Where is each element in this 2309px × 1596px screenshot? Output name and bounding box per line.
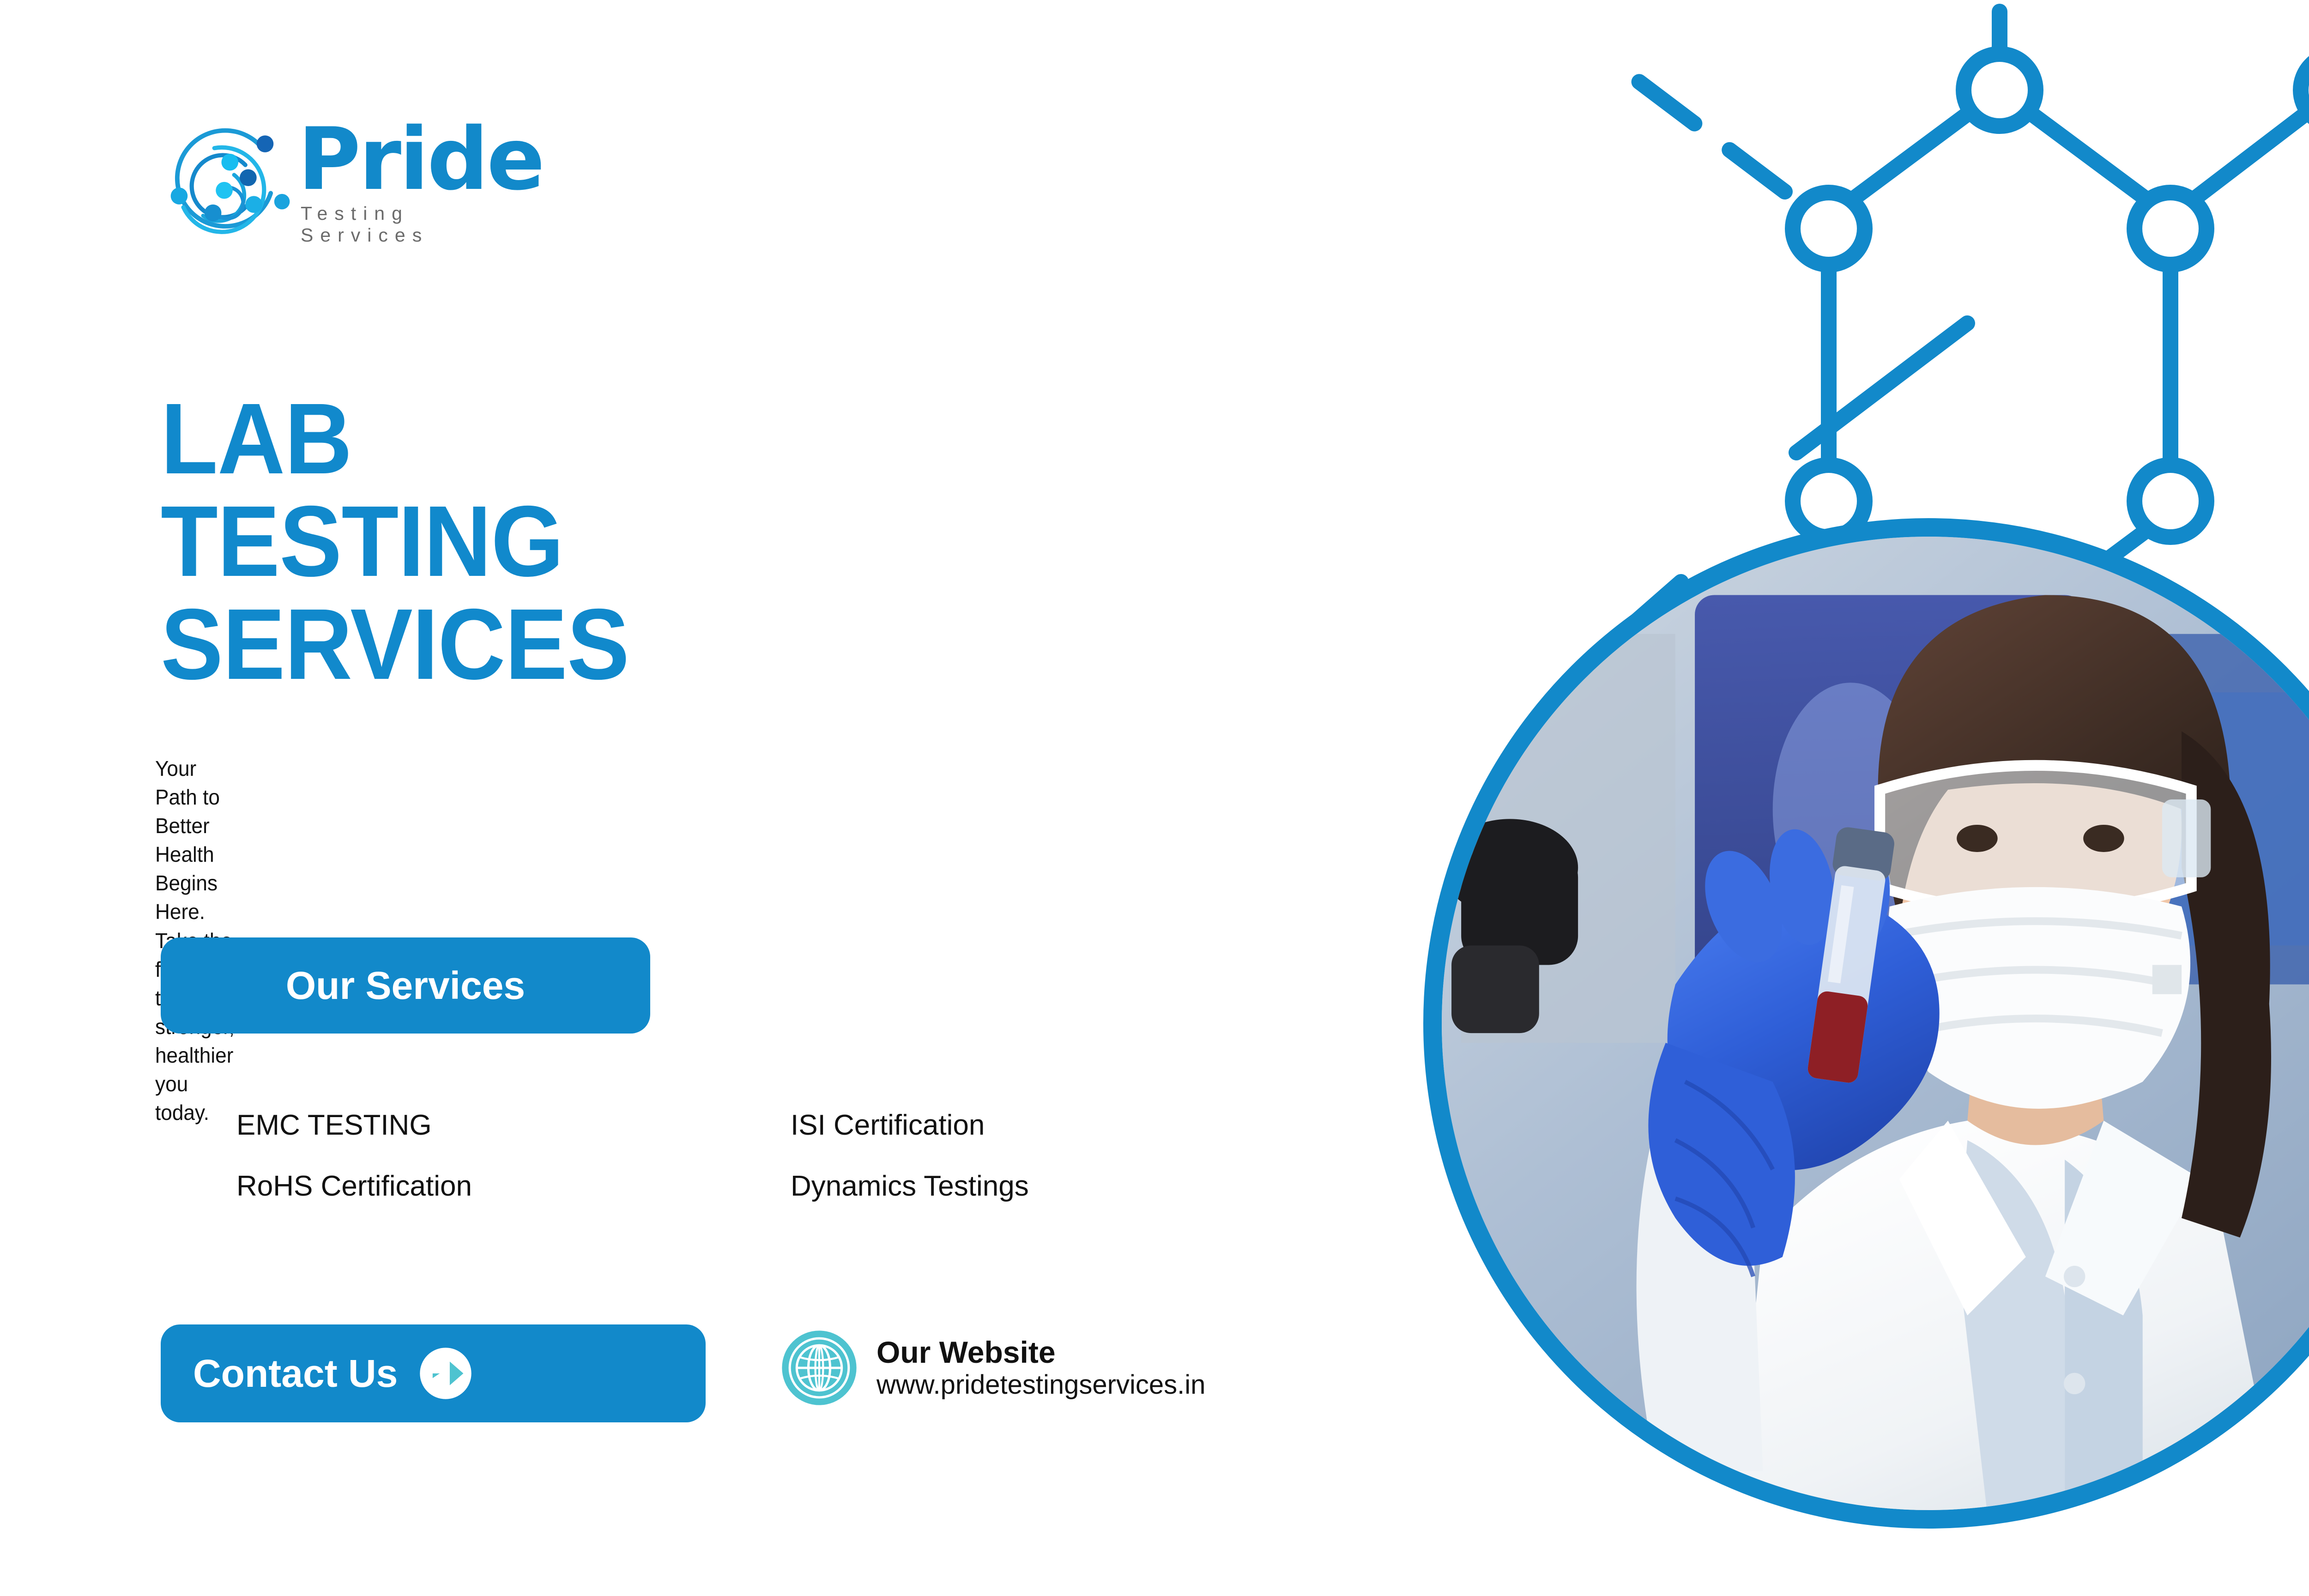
headline-line-1: LAB TESTING — [161, 383, 563, 598]
our-services-button-label: Our Services — [286, 963, 525, 1008]
headline-line-2: SERVICES — [161, 588, 629, 701]
service-item-emc-testing[interactable]: EMC TESTING — [236, 1111, 791, 1140]
brand-logo[interactable]: Pride Testing Services — [152, 113, 543, 256]
our-services-button[interactable]: Our Services — [161, 937, 650, 1034]
lab-technician-photo — [1423, 518, 2309, 1529]
service-item-dynamics-testings[interactable]: Dynamics Testings — [791, 1172, 1029, 1201]
website-label: Our Website — [876, 1336, 1205, 1368]
contact-us-button[interactable]: Contact Us — [161, 1324, 706, 1422]
brand-name: Pride — [298, 122, 543, 196]
page-title: LAB TESTINGSERVICES — [161, 388, 629, 696]
contact-us-button-label: Contact Us — [193, 1351, 398, 1396]
service-item-isi-certification[interactable]: ISI Certification — [791, 1111, 1029, 1140]
services-list: EMC TESTING ISI Certification RoHS Certi… — [236, 1111, 1029, 1201]
website-info[interactable]: Our Website www.pridetestingservices.in — [780, 1329, 1205, 1407]
orbit-atom-icon — [152, 113, 293, 256]
service-item-rohs-certification[interactable]: RoHS Certification — [236, 1172, 791, 1201]
brand-tagline: Testing Services — [301, 203, 543, 246]
globe-icon — [780, 1329, 858, 1407]
website-url[interactable]: www.pridetestingservices.in — [876, 1371, 1205, 1399]
arrow-right-icon — [416, 1344, 475, 1403]
